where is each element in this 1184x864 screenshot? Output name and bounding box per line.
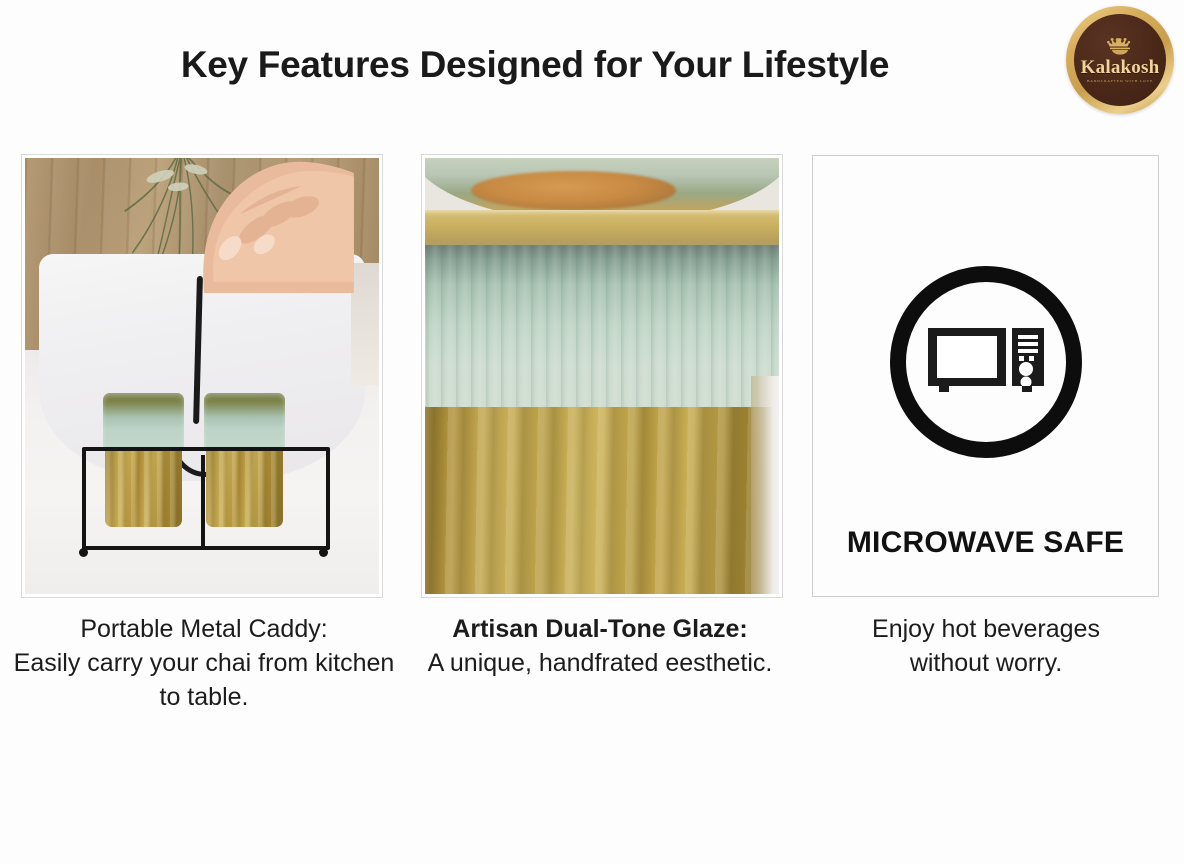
hand-icon xyxy=(191,158,354,293)
cup-teal-glaze xyxy=(422,245,782,411)
metal-caddy-foot-left xyxy=(79,548,88,557)
microwave-safe-label: MICROWAVE SAFE xyxy=(847,526,1124,560)
caption-lead: Artisan Dual-Tone Glaze: xyxy=(400,612,800,646)
brand-tagline: HANDCRAFTED WITH LOVE xyxy=(1087,80,1153,83)
caption-body: Easily carry your chai from kitchen to t… xyxy=(10,646,398,714)
microwave-circle-frame xyxy=(890,266,1082,458)
photo-background-object xyxy=(351,263,379,385)
caption-artisan-dual-tone-glaze: Artisan Dual-Tone Glaze: A unique, handf… xyxy=(400,612,800,680)
metal-caddy-divider xyxy=(201,455,205,551)
caption-body: without worry. xyxy=(806,646,1166,680)
caption-lead: Portable Metal Caddy: xyxy=(10,612,398,646)
feature-card-microwave-safe: MICROWAVE SAFE xyxy=(812,155,1159,597)
caption-body: A unique, handfrated eesthetic. xyxy=(400,646,800,680)
photo-background-edge xyxy=(751,376,782,597)
page-title: Key Features Designed for Your Lifestyle xyxy=(0,44,1070,86)
page-header: Key Features Designed for Your Lifestyle… xyxy=(0,0,1184,140)
caption-microwave-safe: Enjoy hot beverages without worry. xyxy=(806,612,1166,680)
brand-logo-inner: Kalakosh HANDCRAFTED WITH LOVE xyxy=(1074,14,1166,106)
feature-card-portable-metal-caddy xyxy=(22,155,382,597)
brand-logo: Kalakosh HANDCRAFTED WITH LOVE xyxy=(1066,6,1174,114)
microwave-safe-badge: MICROWAVE SAFE xyxy=(812,155,1159,597)
caption-portable-metal-caddy: Portable Metal Caddy: Easily carry your … xyxy=(10,612,398,714)
crown-crest-icon xyxy=(1103,37,1137,57)
metal-caddy-rack xyxy=(82,447,331,551)
metal-caddy-foot-right xyxy=(319,548,328,557)
brand-name: Kalakosh xyxy=(1081,58,1160,77)
microwave-icon xyxy=(926,324,1046,400)
photo-dual-tone-glaze xyxy=(422,155,782,597)
photo-metal-caddy xyxy=(22,155,382,597)
caption-lead: Enjoy hot beverages xyxy=(806,612,1166,646)
cup-mustard-body xyxy=(422,407,782,597)
feature-card-artisan-dual-tone-glaze xyxy=(422,155,782,597)
